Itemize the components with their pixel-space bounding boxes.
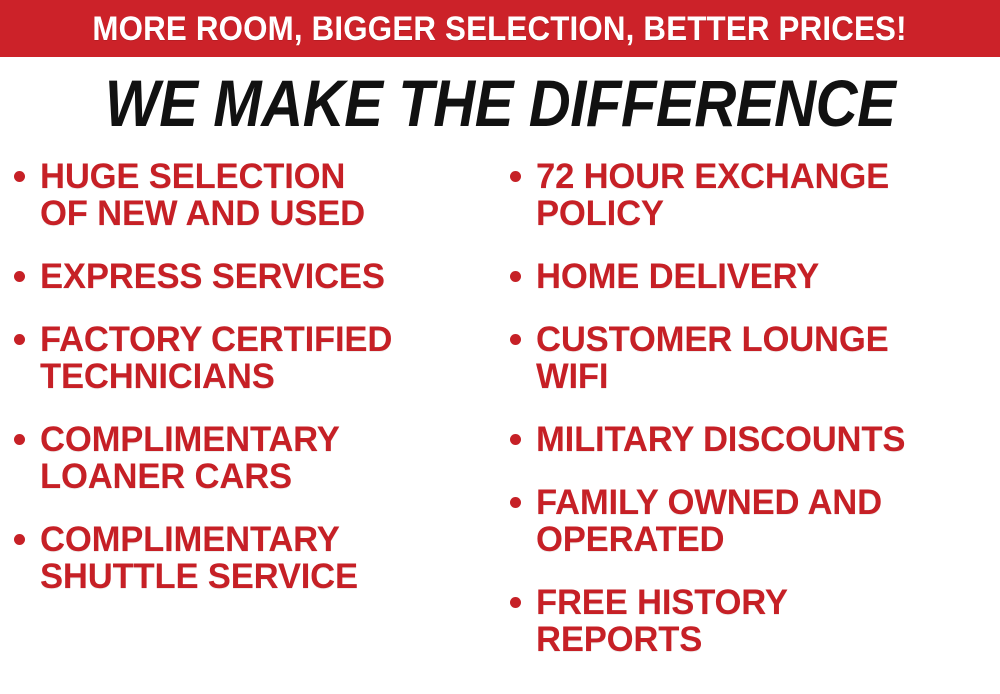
list-item-label: MILITARY DISCOUNTS bbox=[536, 421, 995, 458]
promo-banner: MORE ROOM, BIGGER SELECTION, BETTER PRIC… bbox=[0, 0, 1000, 57]
list-item: COMPLIMENTARY SHUTTLE SERVICE bbox=[14, 521, 494, 595]
list-item: CUSTOMER LOUNGE WIFI bbox=[510, 321, 1000, 395]
features-column-right: 72 HOUR EXCHANGE POLICY HOME DELIVERY CU… bbox=[510, 158, 1000, 684]
features-column-left: HUGE SELECTION OF NEW AND USED EXPRESS S… bbox=[14, 158, 494, 621]
list-item: FACTORY CERTIFIED TECHNICIANS bbox=[14, 321, 494, 395]
list-item-label: COMPLIMENTARY LOANER CARS bbox=[40, 421, 489, 495]
list-item-line2: REPORTS bbox=[536, 621, 995, 658]
list-item-label: HOME DELIVERY bbox=[536, 258, 995, 295]
list-item: FREE HISTORY REPORTS bbox=[510, 584, 1000, 658]
list-item-label: HUGE SELECTION OF NEW AND USED bbox=[40, 158, 489, 232]
headline-text: WE MAKE THE DIFFERENCE bbox=[105, 70, 896, 136]
bullet-dot-icon bbox=[14, 271, 25, 282]
bullet-dot-icon bbox=[510, 497, 521, 508]
list-item: MILITARY DISCOUNTS bbox=[510, 421, 1000, 458]
list-item: HOME DELIVERY bbox=[510, 258, 1000, 295]
list-item-line1: COMPLIMENTARY bbox=[40, 520, 340, 559]
list-item: FAMILY OWNED AND OPERATED bbox=[510, 484, 1000, 558]
list-item-line1: COMPLIMENTARY bbox=[40, 420, 340, 459]
bullet-dot-icon bbox=[510, 597, 521, 608]
bullet-dot-icon bbox=[14, 434, 25, 445]
list-item: COMPLIMENTARY LOANER CARS bbox=[14, 421, 494, 495]
bullet-dot-icon bbox=[14, 171, 25, 182]
list-item-label: FACTORY CERTIFIED TECHNICIANS bbox=[40, 321, 489, 395]
list-item-line2: OPERATED bbox=[536, 521, 995, 558]
list-item-line1: 72 HOUR EXCHANGE bbox=[536, 157, 889, 196]
bullet-dot-icon bbox=[14, 334, 25, 345]
features-columns: HUGE SELECTION OF NEW AND USED EXPRESS S… bbox=[0, 158, 1000, 694]
list-item-line2: LOANER CARS bbox=[40, 458, 489, 495]
list-item-line1: FREE HISTORY bbox=[536, 583, 788, 622]
list-item-line1: HUGE SELECTION bbox=[40, 157, 345, 196]
list-item-line1: FAMILY OWNED AND bbox=[536, 483, 882, 522]
list-item: EXPRESS SERVICES bbox=[14, 258, 494, 295]
list-item-label: COMPLIMENTARY SHUTTLE SERVICE bbox=[40, 521, 489, 595]
list-item-line1: MILITARY DISCOUNTS bbox=[536, 420, 905, 459]
list-item-label: EXPRESS SERVICES bbox=[40, 258, 489, 295]
list-item: HUGE SELECTION OF NEW AND USED bbox=[14, 158, 494, 232]
list-item-line2: WIFI bbox=[536, 358, 995, 395]
bullet-dot-icon bbox=[510, 434, 521, 445]
list-item-line1: HOME DELIVERY bbox=[536, 257, 819, 296]
advertisement-banner: MORE ROOM, BIGGER SELECTION, BETTER PRIC… bbox=[0, 0, 1000, 694]
list-item-line1: FACTORY CERTIFIED bbox=[40, 320, 392, 359]
bullet-dot-icon bbox=[14, 534, 25, 545]
list-item-line1: CUSTOMER LOUNGE bbox=[536, 320, 889, 359]
list-item-label: CUSTOMER LOUNGE WIFI bbox=[536, 321, 995, 395]
list-item-line2: TECHNICIANS bbox=[40, 358, 489, 395]
bullet-dot-icon bbox=[510, 334, 521, 345]
list-item-line1: EXPRESS SERVICES bbox=[40, 257, 385, 296]
list-item-line2: SHUTTLE SERVICE bbox=[40, 558, 489, 595]
list-item-line2: POLICY bbox=[536, 195, 995, 232]
bullet-dot-icon bbox=[510, 271, 521, 282]
list-item-line2: OF NEW AND USED bbox=[40, 195, 489, 232]
list-item: 72 HOUR EXCHANGE POLICY bbox=[510, 158, 1000, 232]
headline: WE MAKE THE DIFFERENCE bbox=[0, 70, 1000, 136]
promo-banner-text: MORE ROOM, BIGGER SELECTION, BETTER PRIC… bbox=[93, 12, 907, 46]
list-item-label: FREE HISTORY REPORTS bbox=[536, 584, 995, 658]
bullet-dot-icon bbox=[510, 171, 521, 182]
list-item-label: 72 HOUR EXCHANGE POLICY bbox=[536, 158, 995, 232]
list-item-label: FAMILY OWNED AND OPERATED bbox=[536, 484, 995, 558]
